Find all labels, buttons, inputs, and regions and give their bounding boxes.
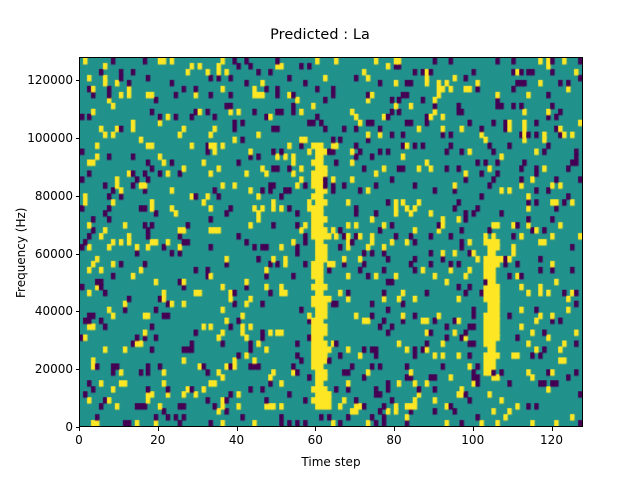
y-tick-mark xyxy=(76,196,80,197)
matplotlib-figure: Predicted : La 020406080100120 020000400… xyxy=(0,0,640,480)
heatmap-image xyxy=(80,58,582,426)
y-tick-mark xyxy=(76,138,80,139)
x-tick-label: 80 xyxy=(364,433,424,447)
x-tick-mark xyxy=(315,427,316,431)
y-tick-mark xyxy=(76,427,80,428)
x-tick-mark xyxy=(237,427,238,431)
y-tick-label: 40000 xyxy=(1,305,73,317)
y-tick-label: 100000 xyxy=(1,132,73,144)
chart-title: Predicted : La xyxy=(0,27,640,43)
x-tick-mark xyxy=(158,427,159,431)
y-tick-label: 0 xyxy=(1,421,73,433)
x-axis-label: Time step xyxy=(79,455,583,469)
x-tick-label: 100 xyxy=(443,433,503,447)
y-tick-mark xyxy=(76,254,80,255)
y-tick-label: 60000 xyxy=(1,248,73,260)
y-tick-label: 80000 xyxy=(1,190,73,202)
x-tick-label: 20 xyxy=(128,433,188,447)
heatmap-axes xyxy=(79,57,583,427)
y-tick-label: 120000 xyxy=(1,74,73,86)
x-tick-mark xyxy=(394,427,395,431)
x-tick-mark xyxy=(79,427,80,431)
y-tick-mark xyxy=(76,311,80,312)
x-tick-mark xyxy=(552,427,553,431)
x-tick-label: 120 xyxy=(522,433,582,447)
y-axis-ticks: 020000400006000080000100000120000 xyxy=(0,0,73,480)
x-tick-label: 60 xyxy=(285,433,345,447)
y-tick-label: 20000 xyxy=(1,363,73,375)
y-tick-mark xyxy=(76,369,80,370)
y-tick-mark xyxy=(76,80,80,81)
x-tick-label: 40 xyxy=(207,433,267,447)
x-tick-mark xyxy=(473,427,474,431)
y-axis-label: Frequency (Hz) xyxy=(14,208,28,299)
